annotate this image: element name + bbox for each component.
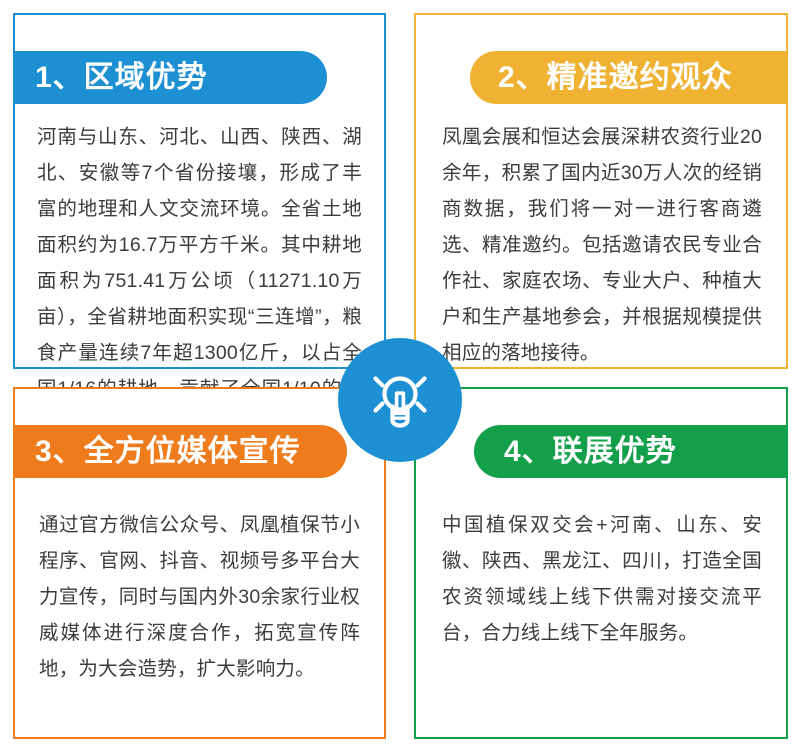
panel-joint-exhibition: 4、联展优势 中国植保双交会+河南、山东、安徽、陕西、黑龙江、四川，打造全国农资… [414,387,788,739]
center-badge [338,338,462,462]
panel-4-header-pill: 4、联展优势 [474,425,788,478]
panel-2-body: 凤凰会展和恒达会展深耕农资行业20余年，积累了国内近30万人次的经销商数据，我们… [442,119,762,371]
panel-regional-advantage: 1、区域优势 河南与山东、河北、山西、陕西、湖北、安徽等7个省份接壤，形成了丰富… [13,13,386,369]
panel-3-header-pill: 3、全方位媒体宣传 [13,425,347,478]
panel-4-body: 中国植保双交会+河南、山东、安徽、陕西、黑龙江、四川，打造全国农资领域线上线下供… [442,507,762,651]
lightbulb-icon [361,361,439,439]
panel-1-title: 1、区域优势 [35,63,208,93]
infographic-canvas: 1、区域优势 河南与山东、河北、山西、陕西、湖北、安徽等7个省份接壤，形成了丰富… [0,0,800,755]
panel-1-header-pill: 1、区域优势 [13,51,327,104]
panel-3-title: 3、全方位媒体宣传 [35,437,301,467]
panel-precise-invitation: 2、精准邀约观众 凤凰会展和恒达会展深耕农资行业20余年，积累了国内近30万人次… [414,13,788,369]
panel-media-promotion: 3、全方位媒体宣传 通过官方微信公众号、凤凰植保节小程序、官网、抖音、视频号多平… [13,387,386,739]
panel-2-title: 2、精准邀约观众 [498,63,733,93]
panel-4-title: 4、联展优势 [504,437,677,467]
panel-2-header-pill: 2、精准邀约观众 [470,51,788,104]
panel-3-body: 通过官方微信公众号、凤凰植保节小程序、官网、抖音、视频号多平台大力宣传，同时与国… [39,507,360,687]
